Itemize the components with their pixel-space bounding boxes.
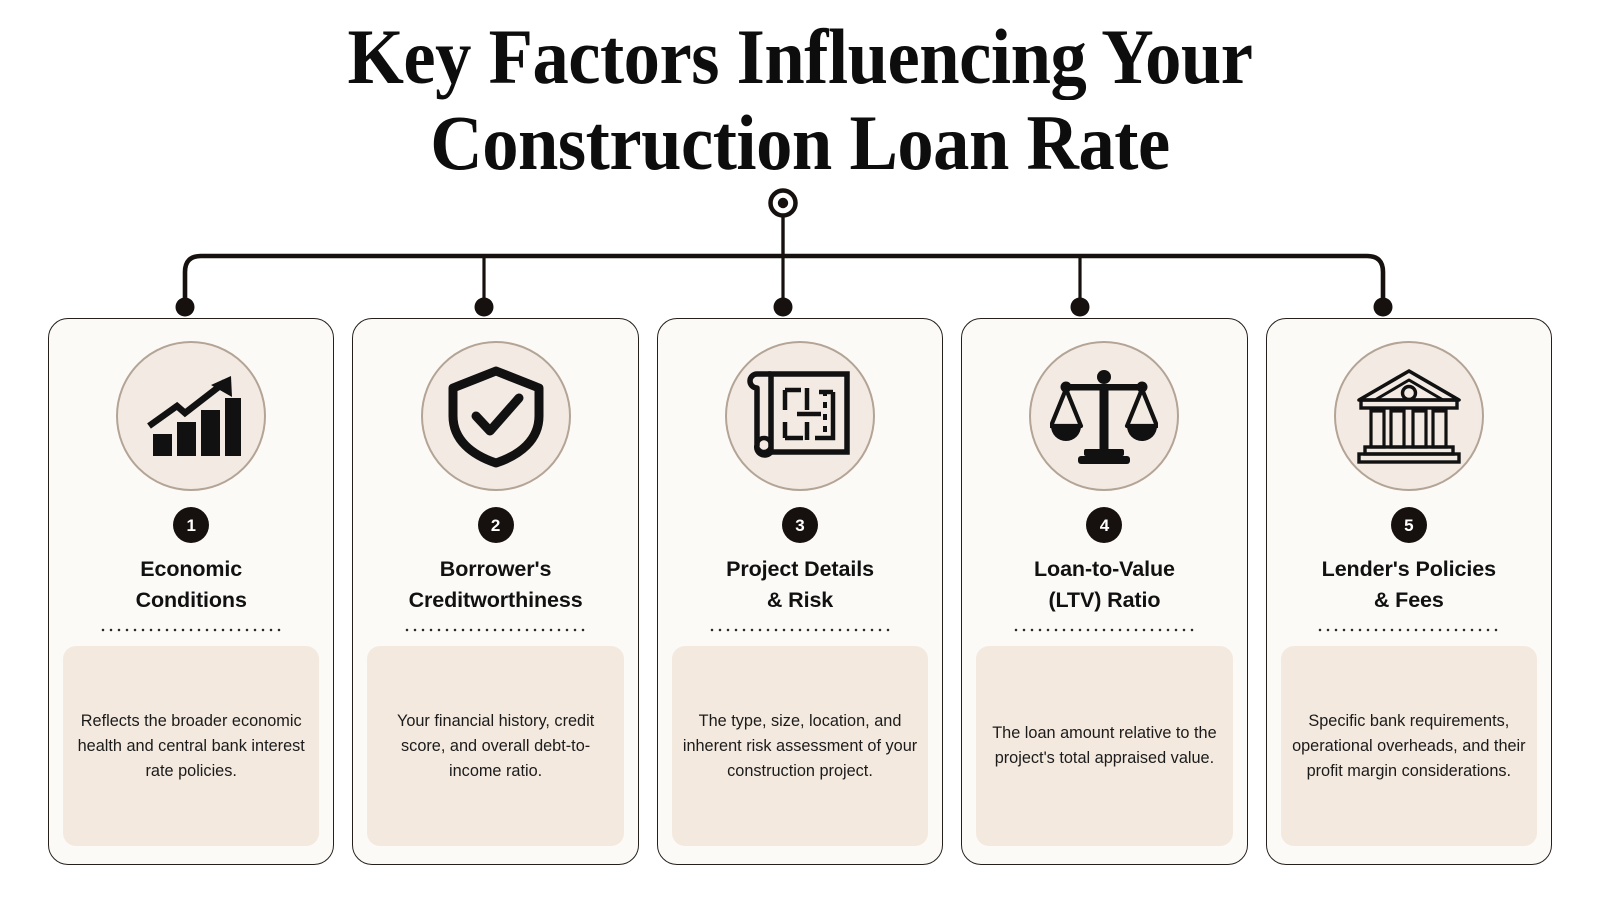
infographic-root: Key Factors Influencing Your Constructio… xyxy=(0,0,1600,900)
connector-bus xyxy=(185,256,1383,307)
card-title-line-2: & Risk xyxy=(726,585,874,616)
shield-check-icon xyxy=(421,341,571,491)
hub-node-center-dot xyxy=(778,198,788,208)
factor-card-5[interactable]: 5 Lender's Policies & Fees Specific bank… xyxy=(1266,318,1552,865)
page-title: Key Factors Influencing Your Constructio… xyxy=(0,14,1600,186)
dotted-divider xyxy=(99,628,284,632)
dotted-divider xyxy=(403,628,588,632)
card-description: The loan amount relative to the project'… xyxy=(976,646,1232,846)
card-description: Reflects the broader economic health and… xyxy=(63,646,319,846)
page-title-line-2: Construction Loan Rate xyxy=(56,100,1544,186)
card-title: Loan-to-Value (LTV) Ratio xyxy=(1034,554,1175,616)
card-description: The type, size, location, and inherent r… xyxy=(672,646,928,846)
balance-scales-icon xyxy=(1029,341,1179,491)
card-title-line-2: & Fees xyxy=(1322,585,1496,616)
branch-dot-4 xyxy=(1071,298,1090,317)
card-title-line-1: Lender's Policies xyxy=(1322,554,1496,585)
factor-card-2[interactable]: 2 Borrower's Creditworthiness Your finan… xyxy=(352,318,638,865)
dotted-divider xyxy=(1012,628,1197,632)
card-title-line-1: Loan-to-Value xyxy=(1034,554,1175,585)
factor-card-1[interactable]: 1 Economic Conditions Reflects the broad… xyxy=(48,318,334,865)
card-number-badge: 5 xyxy=(1391,507,1427,543)
card-title: Lender's Policies & Fees xyxy=(1322,554,1496,616)
page-title-line-1: Key Factors Influencing Your xyxy=(56,14,1544,100)
card-number-badge: 4 xyxy=(1086,507,1122,543)
card-number-badge: 3 xyxy=(782,507,818,543)
blueprint-roll-icon xyxy=(725,341,875,491)
card-title-line-2: (LTV) Ratio xyxy=(1034,585,1175,616)
card-title-line-2: Creditworthiness xyxy=(409,585,583,616)
card-description: Your financial history, credit score, an… xyxy=(367,646,623,846)
factor-card-3[interactable]: 3 Project Details & Risk The type, size,… xyxy=(657,318,943,865)
card-description: Specific bank requirements, operational … xyxy=(1281,646,1537,846)
card-title-line-1: Economic xyxy=(136,554,247,585)
bank-building-icon xyxy=(1334,341,1484,491)
branch-dot-3 xyxy=(774,298,793,317)
branch-dot-1 xyxy=(176,298,195,317)
card-number-badge: 2 xyxy=(478,507,514,543)
factor-card-row: 1 Economic Conditions Reflects the broad… xyxy=(48,318,1552,865)
card-title-line-1: Borrower's xyxy=(409,554,583,585)
card-title: Economic Conditions xyxy=(136,554,247,616)
bar-chart-growth-icon xyxy=(116,341,266,491)
card-title: Borrower's Creditworthiness xyxy=(409,554,583,616)
branch-dot-2 xyxy=(475,298,494,317)
card-title-line-1: Project Details xyxy=(726,554,874,585)
card-title-line-2: Conditions xyxy=(136,585,247,616)
card-title: Project Details & Risk xyxy=(726,554,874,616)
dotted-divider xyxy=(1316,628,1501,632)
card-number-badge: 1 xyxy=(173,507,209,543)
factor-card-4[interactable]: 4 Loan-to-Value (LTV) Ratio The loan amo… xyxy=(961,318,1247,865)
hub-node-ring-icon xyxy=(771,191,796,216)
dotted-divider xyxy=(708,628,893,632)
branch-dot-5 xyxy=(1374,298,1393,317)
